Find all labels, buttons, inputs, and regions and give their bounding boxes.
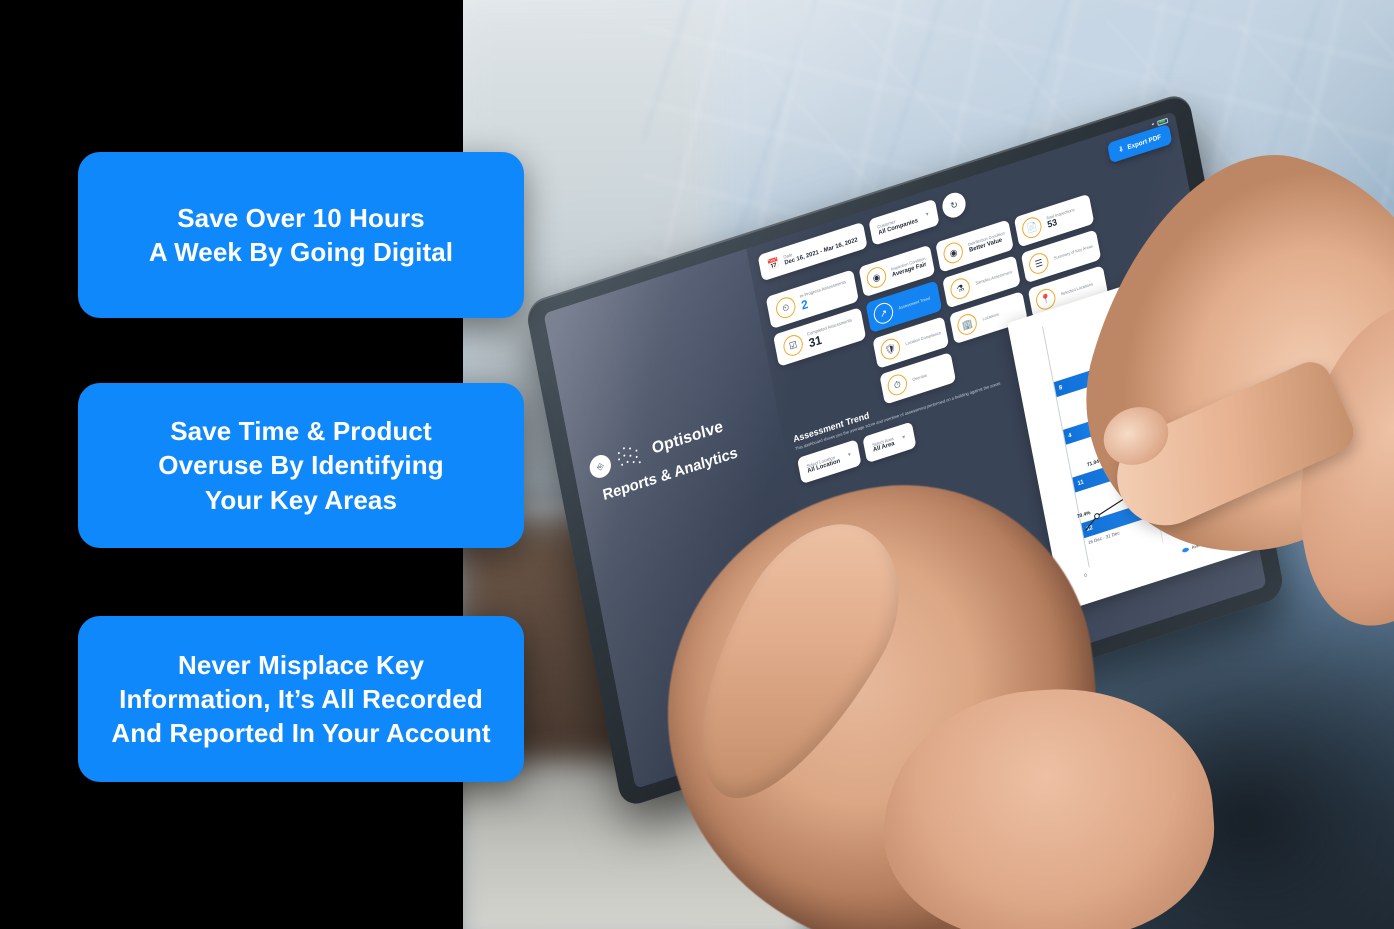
- customer-filter[interactable]: Customer All Companies ▼: [868, 199, 940, 246]
- kpi-label: Summary of Key Areas: [1053, 244, 1093, 262]
- kpi-label: Selected Locations: [1060, 282, 1093, 297]
- legend-swatch: [1182, 547, 1189, 553]
- kpi-label: Location Compliance: [905, 330, 941, 347]
- user-avatar-icon[interactable]: ⎆: [588, 452, 613, 481]
- document-icon: 📄: [1020, 215, 1043, 241]
- trend-icon: ↗: [872, 300, 895, 326]
- callout-card-2: Save Time & Product Overuse By Identifyi…: [78, 383, 524, 548]
- callout-card-3: Never Misplace Key Information, It’s All…: [78, 616, 524, 782]
- callout-card-1: Save Over 10 Hours A Week By Going Digit…: [78, 152, 524, 318]
- callout-text-2: Save Time & Product Overuse By Identifyi…: [158, 414, 443, 517]
- kpi-label: Overdue: [912, 373, 928, 383]
- callout-text-1: Save Over 10 Hours A Week By Going Digit…: [149, 201, 453, 270]
- kpi-label: Assessment Trend: [898, 296, 930, 311]
- chevron-down-icon: ▼: [847, 452, 853, 459]
- calendar-icon: 📅: [767, 257, 781, 272]
- chart-y-tick: 0: [1084, 572, 1087, 578]
- refresh-icon[interactable]: ↻: [940, 190, 967, 221]
- callout-text-3: Never Misplace Key Information, It’s All…: [111, 648, 490, 751]
- clipboard-check-icon: ☑: [782, 332, 805, 358]
- gauge-icon: ◉: [865, 265, 888, 291]
- shield-check-icon: 🛡: [879, 336, 902, 362]
- export-pdf-label: Export PDF: [1127, 133, 1162, 151]
- gauge-icon: ◉: [942, 240, 965, 266]
- promo-image: ◕ ⎆: [0, 0, 1394, 929]
- chevron-down-icon: ▼: [901, 434, 907, 441]
- download-icon: ⇩: [1118, 145, 1125, 155]
- wifi-icon: ◕: [1151, 121, 1155, 128]
- kpi-label: Samples Assessment: [975, 270, 1012, 287]
- export-pdf-button[interactable]: ⇩ Export PDF: [1107, 124, 1172, 164]
- kpi-label: Locations: [982, 312, 999, 322]
- clock-alert-icon: ⏱: [886, 372, 909, 398]
- dot-matrix-logo-icon: [615, 440, 648, 473]
- clipboard-clock-icon: ⏲: [774, 295, 797, 321]
- building-icon: 🏢: [956, 311, 979, 337]
- chevron-down-icon: ▼: [924, 211, 930, 218]
- flask-icon: ⚗: [949, 276, 972, 302]
- photo-background: ◕ ⎆: [463, 0, 1394, 929]
- layers-icon: ☰: [1027, 250, 1050, 276]
- kpi-column-1: ⏲ In-Progress Assessments 2 ☑: [766, 269, 880, 434]
